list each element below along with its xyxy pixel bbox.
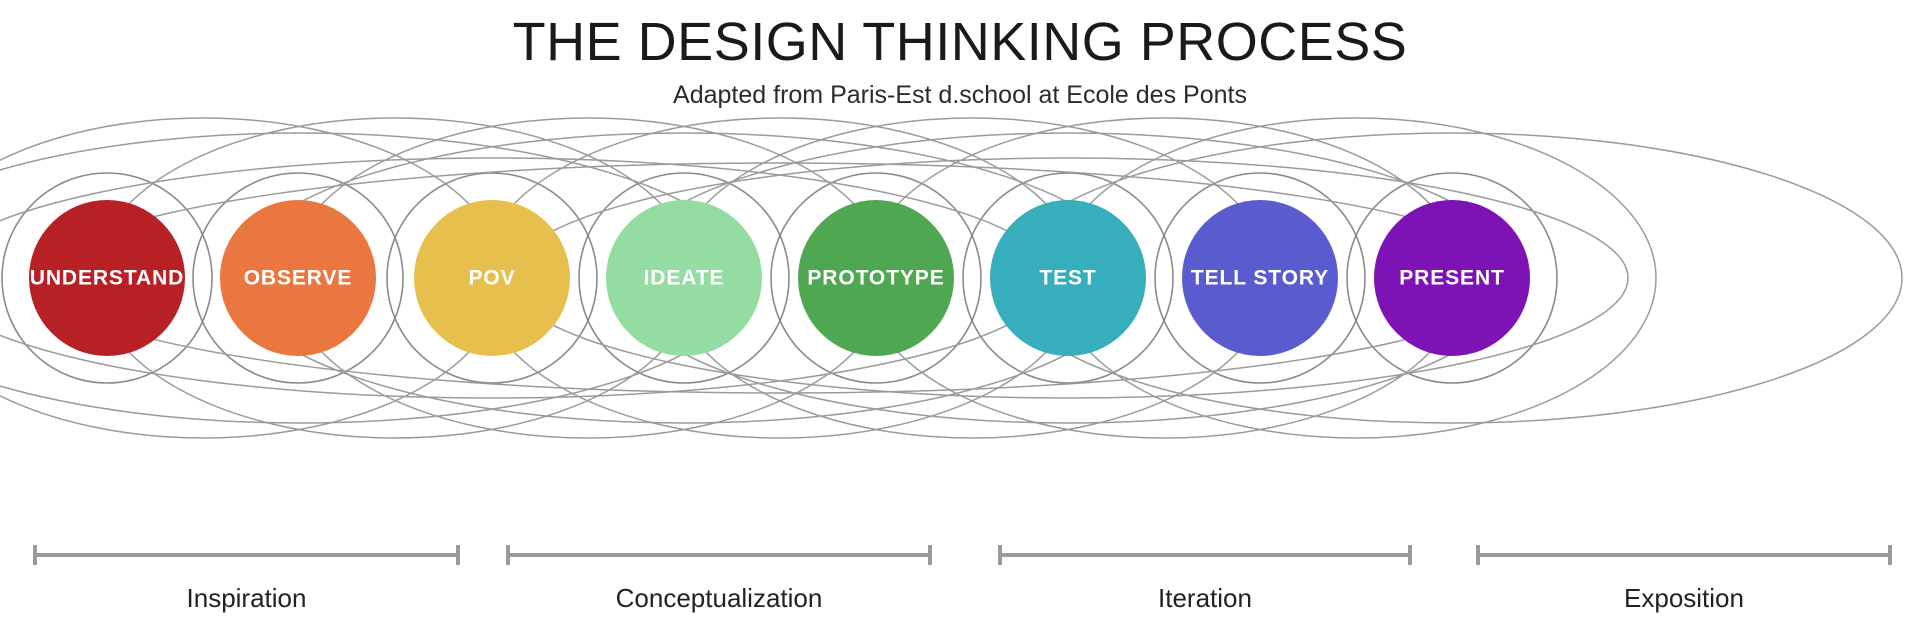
phase-label: Conceptualization — [616, 583, 823, 613]
phase-bracket-iteration: Iteration — [1000, 545, 1410, 613]
phase-label: Inspiration — [187, 583, 307, 613]
stage-label: OBSERVE — [244, 267, 353, 290]
stage-label: UNDERSTAND — [30, 267, 184, 290]
stage-node-present[interactable]: PRESENT — [1374, 200, 1530, 356]
stage-label: PROTOTYPE — [807, 267, 944, 290]
phase-bracket-inspiration: Inspiration — [35, 545, 458, 613]
stage-label: TELL STORY — [1191, 267, 1329, 290]
stage-node-ideate[interactable]: IDEATE — [606, 200, 762, 356]
phase-label: Iteration — [1158, 583, 1252, 613]
stage-label: TEST — [1039, 267, 1096, 290]
stage-node-observe[interactable]: OBSERVE — [220, 200, 376, 356]
stage-label: POV — [468, 267, 515, 290]
phase-brackets-group: InspirationConceptualizationIterationExp… — [35, 545, 1890, 613]
process-diagram: UNDERSTANDOBSERVEPOVIDEATEPROTOTYPETESTT… — [0, 0, 1920, 639]
stage-label: IDEATE — [644, 267, 725, 290]
phase-bracket-exposition: Exposition — [1478, 545, 1890, 613]
stage-node-understand[interactable]: UNDERSTAND — [29, 200, 185, 356]
phase-label: Exposition — [1624, 583, 1744, 613]
design-thinking-diagram: THE DESIGN THINKING PROCESS Adapted from… — [0, 0, 1920, 639]
stage-circles-group: UNDERSTANDOBSERVEPOVIDEATEPROTOTYPETESTT… — [29, 200, 1530, 356]
stage-node-pov[interactable]: POV — [414, 200, 570, 356]
stage-node-tell-story[interactable]: TELL STORY — [1182, 200, 1338, 356]
stage-node-prototype[interactable]: PROTOTYPE — [798, 200, 954, 356]
stage-node-test[interactable]: TEST — [990, 200, 1146, 356]
phase-bracket-conceptualization: Conceptualization — [508, 545, 930, 613]
stage-label: PRESENT — [1399, 267, 1505, 290]
